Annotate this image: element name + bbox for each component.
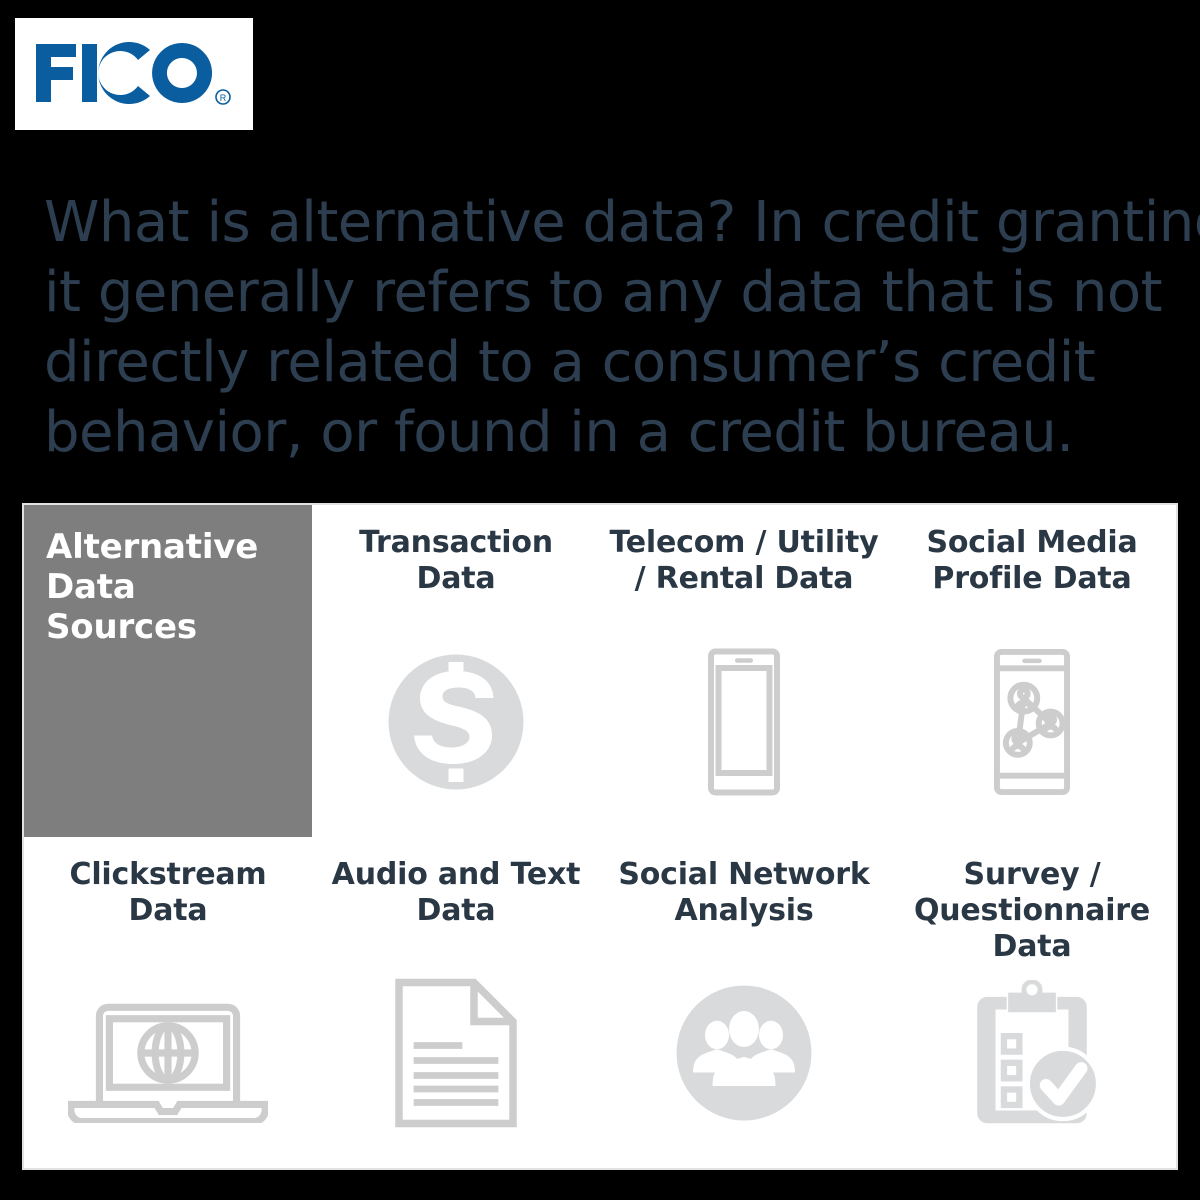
cell-label-social-network-analysis: Social Network Analysis <box>606 857 882 929</box>
document-lines-icon <box>387 968 525 1138</box>
cell-label-telecom-utility-rental-data: Telecom / Utility / Rental Data <box>606 525 882 597</box>
feature-cell-label: Alternative Data Sources <box>46 527 258 647</box>
feature-label-line-1: Alternative <box>46 527 258 567</box>
dollar-coin-icon <box>381 637 531 807</box>
data-sources-grid: Alternative Data Sources Transaction Dat… <box>24 505 1176 1168</box>
headline-line-2: it generally refers to any data that is … <box>44 258 1164 328</box>
cell-label-transaction-data: Transaction Data <box>318 525 594 597</box>
headline-line-3: directly related to a consumer’s credit <box>44 328 1164 398</box>
headline-line-4: behavior, or found in a credit bureau. <box>44 398 1164 468</box>
cell-survey-questionnaire-data: Survey / Questionnaire Data <box>888 837 1176 1169</box>
feature-label-line-2: Data <box>46 567 136 607</box>
cell-social-network-analysis: Social Network Analysis <box>600 837 888 1169</box>
fico-logo: R <box>34 38 234 110</box>
cell-social-media-profile-data: Social Media Profile Data <box>888 505 1176 837</box>
cell-telecom-utility-rental-data: Telecom / Utility / Rental Data <box>600 505 888 837</box>
cell-clickstream-data: Clickstream Data <box>24 837 312 1169</box>
people-group-circle-icon <box>669 968 819 1138</box>
cell-label-survey-questionnaire-data: Survey / Questionnaire Data <box>894 857 1170 965</box>
feature-label-line-3: Sources <box>46 607 197 647</box>
smartphone-icon <box>705 637 783 807</box>
fico-logo-card: R <box>15 18 253 130</box>
smartphone-social-network-icon <box>991 637 1073 807</box>
cell-audio-and-text-data: Audio and Text Data <box>312 837 600 1169</box>
cell-label-social-media-profile-data: Social Media Profile Data <box>894 525 1170 597</box>
cell-label-audio-and-text-data: Audio and Text Data <box>318 857 594 929</box>
headline-line-1: What is alternative data? In credit gran… <box>44 188 1164 258</box>
cell-label-clickstream-data: Clickstream Data <box>30 857 306 929</box>
laptop-globe-icon <box>68 968 268 1138</box>
cell-transaction-data: Transaction Data <box>312 505 600 837</box>
page-headline: What is alternative data? In credit gran… <box>44 188 1164 468</box>
svg-text:R: R <box>220 93 227 103</box>
alternative-data-sources-panel: Alternative Data Sources Transaction Dat… <box>22 503 1178 1170</box>
registered-mark-icon: R <box>216 90 230 104</box>
clipboard-check-icon <box>964 968 1100 1138</box>
feature-cell-alternative-data-sources: Alternative Data Sources <box>24 505 312 837</box>
